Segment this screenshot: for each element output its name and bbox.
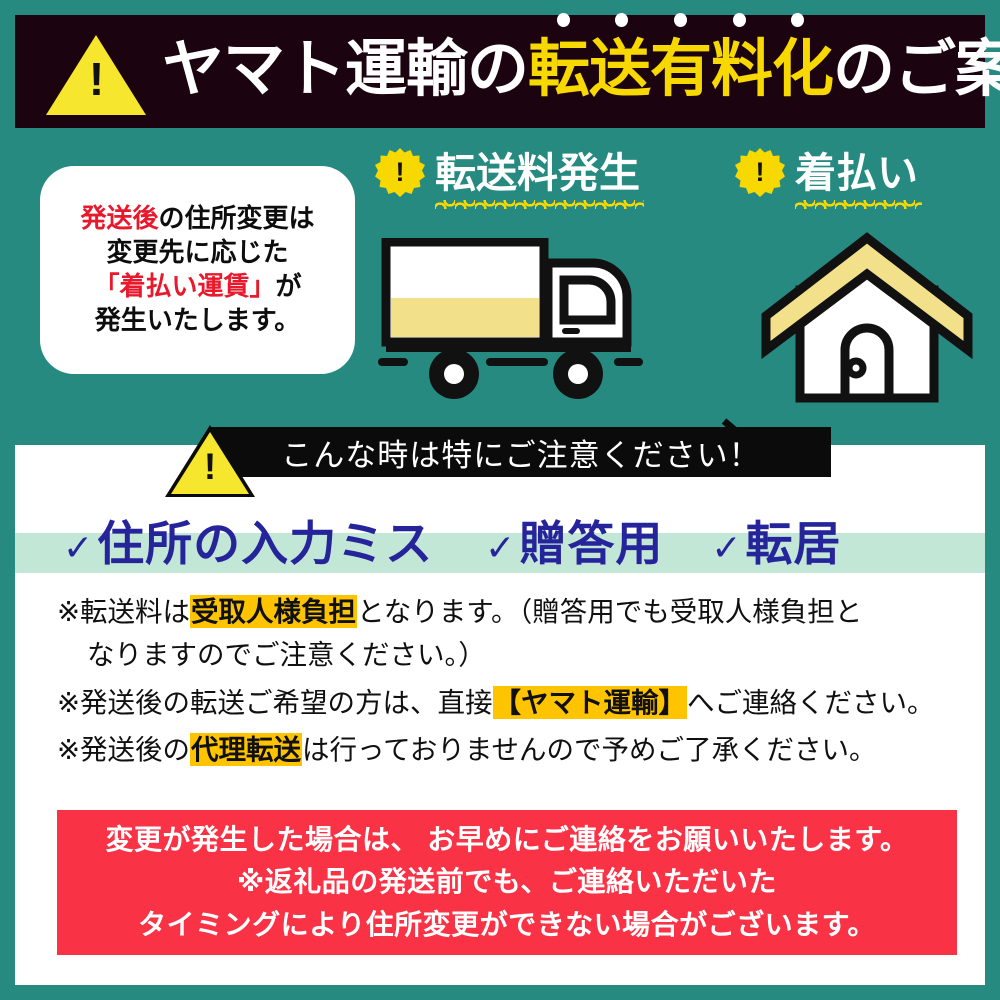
bubble-line3-red: 「着払い運賃」: [93, 271, 275, 301]
check-item-address-typo: ✓ 住所の入力ミス: [63, 505, 433, 574]
wavy-underline-icon: [435, 200, 644, 209]
check-item-label: 贈答用: [519, 505, 663, 574]
note1-text-a: ※転送料は: [57, 596, 190, 627]
note1-text-c: なりますのでご注意ください。）: [57, 633, 957, 676]
house-label: 着払い: [795, 150, 918, 196]
checklist-row: ✓ 住所の入力ミス ✓ 贈答用 ✓ 転居: [15, 505, 985, 573]
warning-triangle-icon: !: [39, 26, 154, 118]
note-item-2: ※発送後の転送ご希望の方は、直接【ヤマト運輸】へご連絡ください。: [57, 681, 957, 724]
attention-label: こんな時は特にご注意ください！: [281, 430, 760, 475]
details-section: こんな時は特にご注意ください！ ! ✓ 住所の入力ミス ✓ 贈答用 ✓ 転居: [15, 445, 985, 985]
urgent-notice-box: 変更が発生した場合は、 お早めにご連絡をお願いいたします。 ※返礼品の発送前でも…: [57, 810, 957, 955]
check-item-label: 住所の入力ミス: [97, 505, 433, 574]
notes-list: ※転送料は受取人様負担となります。（贈答用でも受取人様負担と なりますのでご注意…: [57, 590, 957, 776]
title-part-2-emphasis: 転送有料化: [528, 39, 833, 101]
bubble-line2: 変更先に応じた: [106, 236, 288, 270]
home-icon: [760, 228, 975, 408]
house-label-group: ! 着払い: [735, 148, 970, 198]
bubble-line4: 発生いたします。: [95, 304, 300, 338]
wavy-underline-icon: [795, 200, 922, 209]
check-icon: ✓: [711, 527, 741, 569]
bubble-line3-rest: が: [276, 271, 302, 301]
note3-text-a: ※発送後の: [57, 734, 190, 765]
title-part-1: ヤマト運輸の: [162, 39, 528, 101]
note2-text-b: へご連絡ください。: [687, 687, 935, 718]
warning-bang-label: !: [89, 56, 104, 102]
note1-highlight: 受取人様負担: [190, 595, 357, 628]
note2-text-a: ※発送後の転送ご希望の方は、直接: [57, 687, 493, 718]
badge-bang-label: !: [756, 159, 765, 186]
note2-highlight: 【ヤマト運輸】: [493, 686, 688, 719]
note-item-3: ※発送後の代理転送は行っておりませんので予めご了承ください。: [57, 728, 957, 771]
check-icon: ✓: [63, 527, 93, 569]
truck-label-group: ! 転送料発生: [375, 148, 685, 198]
exclamation-badge-icon: !: [735, 148, 785, 198]
note3-highlight: 代理転送: [190, 733, 302, 766]
exclamation-badge-icon: !: [375, 148, 425, 198]
page-title: ヤマト運輸の 転送有料化 のご案内: [162, 39, 1000, 105]
note3-text-b: は行っておりませんので予めご了承ください。: [302, 734, 876, 765]
bubble-line1-red: 発送後: [80, 203, 158, 233]
speech-bubble: 発送後の住所変更は 変更先に応じた 「着払い運賃」が 発生いたします。: [40, 166, 355, 374]
check-item-gift: ✓ 贈答用: [485, 505, 663, 574]
attention-banner: こんな時は特にご注意ください！: [211, 427, 831, 477]
truck-label: 転送料発生: [435, 150, 640, 196]
attention-warning-triangle-icon: !: [165, 425, 255, 497]
header-banner: ! ヤマト運輸の 転送有料化 のご案内: [15, 15, 985, 128]
title-part-2-label: 転送有料化: [528, 35, 833, 104]
bubble-line1-rest: の住所変更は: [159, 203, 315, 233]
check-item-moving: ✓ 転居: [711, 505, 841, 574]
attention-bang-label: !: [204, 448, 216, 485]
check-item-label: 転居: [746, 505, 842, 574]
title-part-3: のご案内: [833, 39, 1000, 101]
urgent-line-1: 変更が発生した場合は、 お早めにご連絡をお願いいたします。: [106, 819, 909, 862]
delivery-truck-icon: [378, 238, 643, 406]
check-icon: ✓: [485, 527, 515, 569]
poster-root: ! ヤマト運輸の 転送有料化 のご案内 発送後の住所変更は 変更先に応じた 「着…: [0, 0, 1000, 1000]
badge-bang-label: !: [396, 159, 405, 186]
note1-text-b: となります。（贈答用でも受取人様負担と: [357, 596, 862, 627]
note-item-1: ※転送料は受取人様負担となります。（贈答用でも受取人様負担と なりますのでご注意…: [57, 590, 957, 677]
urgent-line-2: ※返礼品の発送前でも、ご連絡いただいた: [237, 861, 777, 904]
emphasis-dots-icon: [528, 13, 833, 27]
teal-info-section: 発送後の住所変更は 変更先に応じた 「着払い運賃」が 発生いたします。 ! 転送…: [0, 128, 1000, 445]
urgent-line-3: タイミングにより住所変更ができない場合がございます。: [138, 904, 876, 947]
